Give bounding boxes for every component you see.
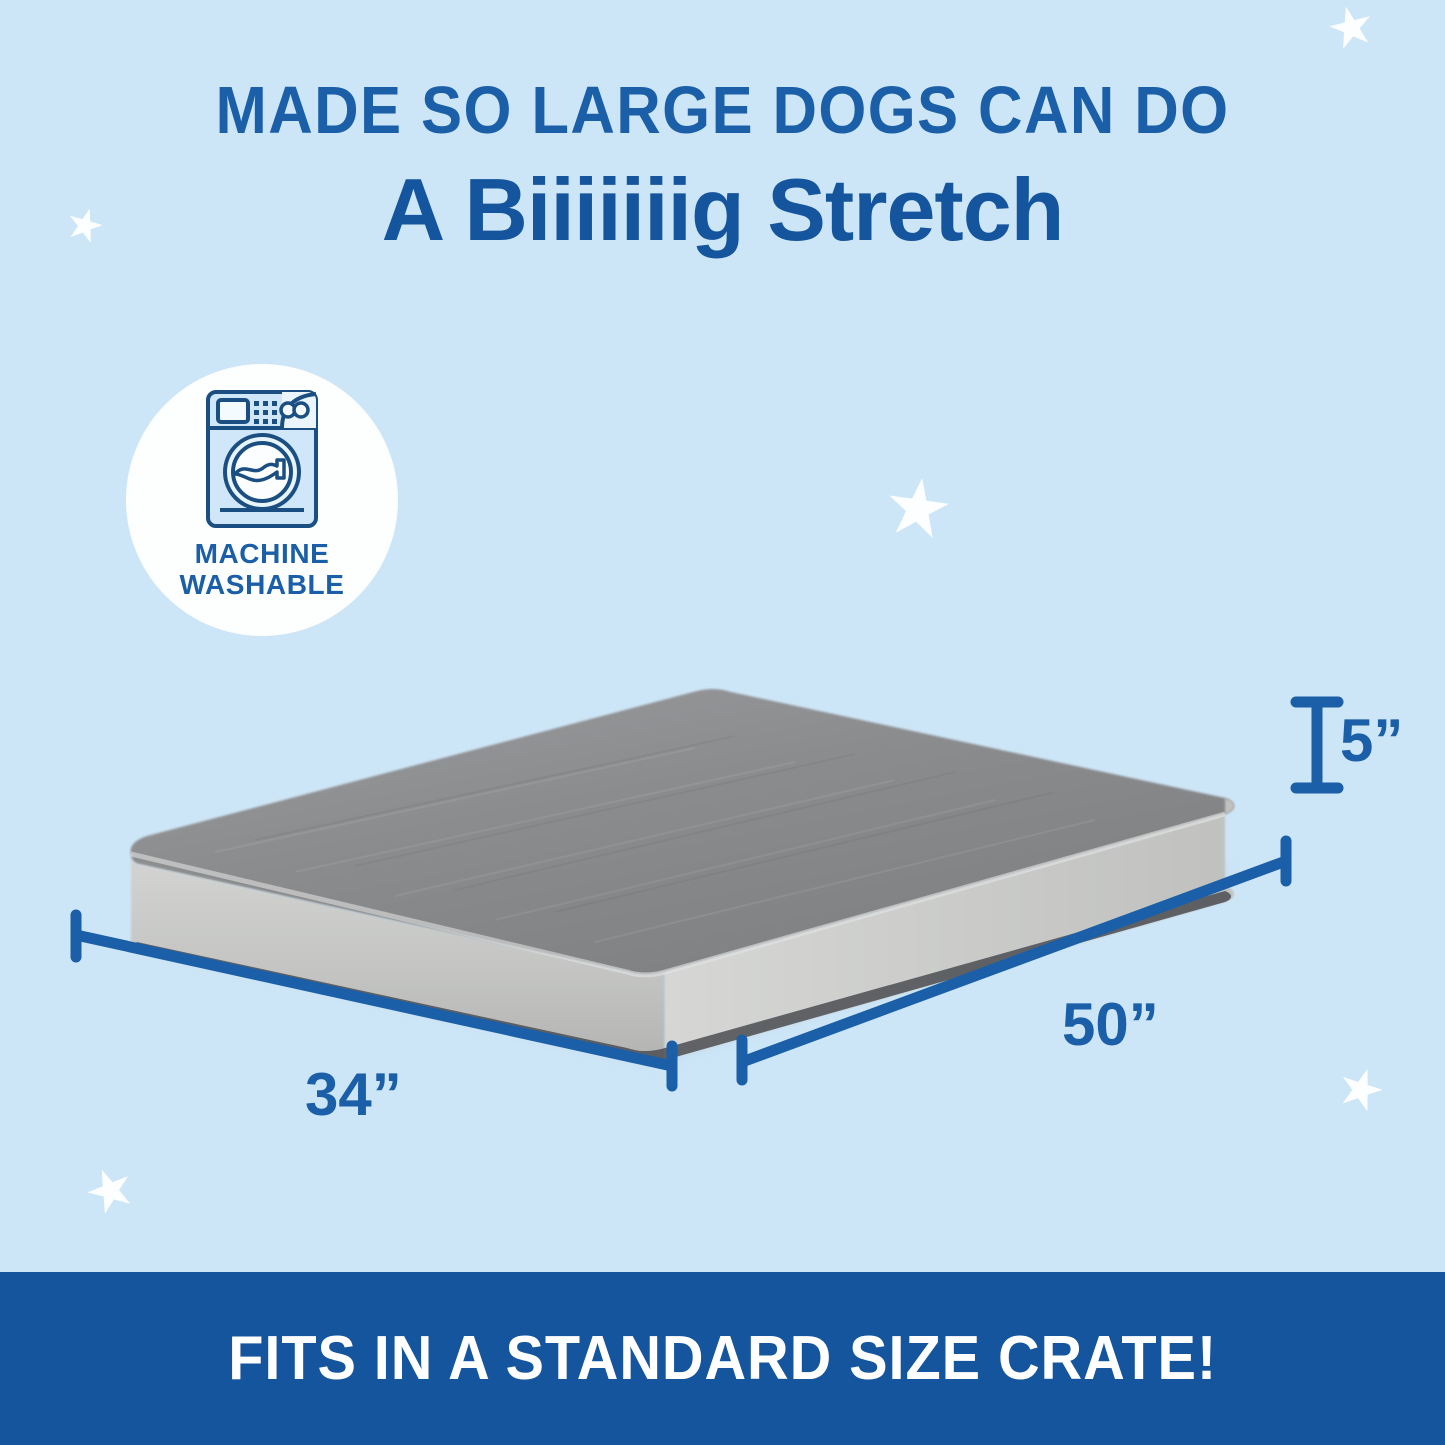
banner-text: FITS IN A STANDARD SIZE CRATE! — [228, 1323, 1217, 1394]
headline-line-2: A Biiiiiiig Stretch — [0, 156, 1445, 264]
star-icon — [1326, 2, 1377, 53]
dimension-label-width: 34” — [305, 1060, 402, 1129]
star-icon — [81, 1161, 138, 1218]
dimension-marker-height — [1296, 702, 1338, 788]
headline-line-1: MADE SO LARGE DOGS CAN DO — [58, 72, 1387, 150]
badge-label-line-2: WASHABLE — [179, 569, 344, 600]
star-icon — [1335, 1063, 1388, 1116]
product-infographic: MADE SO LARGE DOGS CAN DO A Biiiiiiig St… — [0, 0, 1445, 1445]
dimension-label-height: 5” — [1340, 706, 1403, 775]
badge-label-line-1: MACHINE — [179, 538, 344, 569]
headline-block: MADE SO LARGE DOGS CAN DO A Biiiiiiig St… — [0, 72, 1445, 264]
dimension-label-length: 50” — [1062, 990, 1159, 1059]
machine-washable-badge: MACHINE WASHABLE — [126, 364, 398, 636]
star-icon — [884, 474, 952, 542]
badge-label: MACHINE WASHABLE — [179, 538, 344, 600]
washing-machine-icon — [196, 386, 328, 532]
bottom-banner: FITS IN A STANDARD SIZE CRATE! — [0, 1272, 1445, 1445]
